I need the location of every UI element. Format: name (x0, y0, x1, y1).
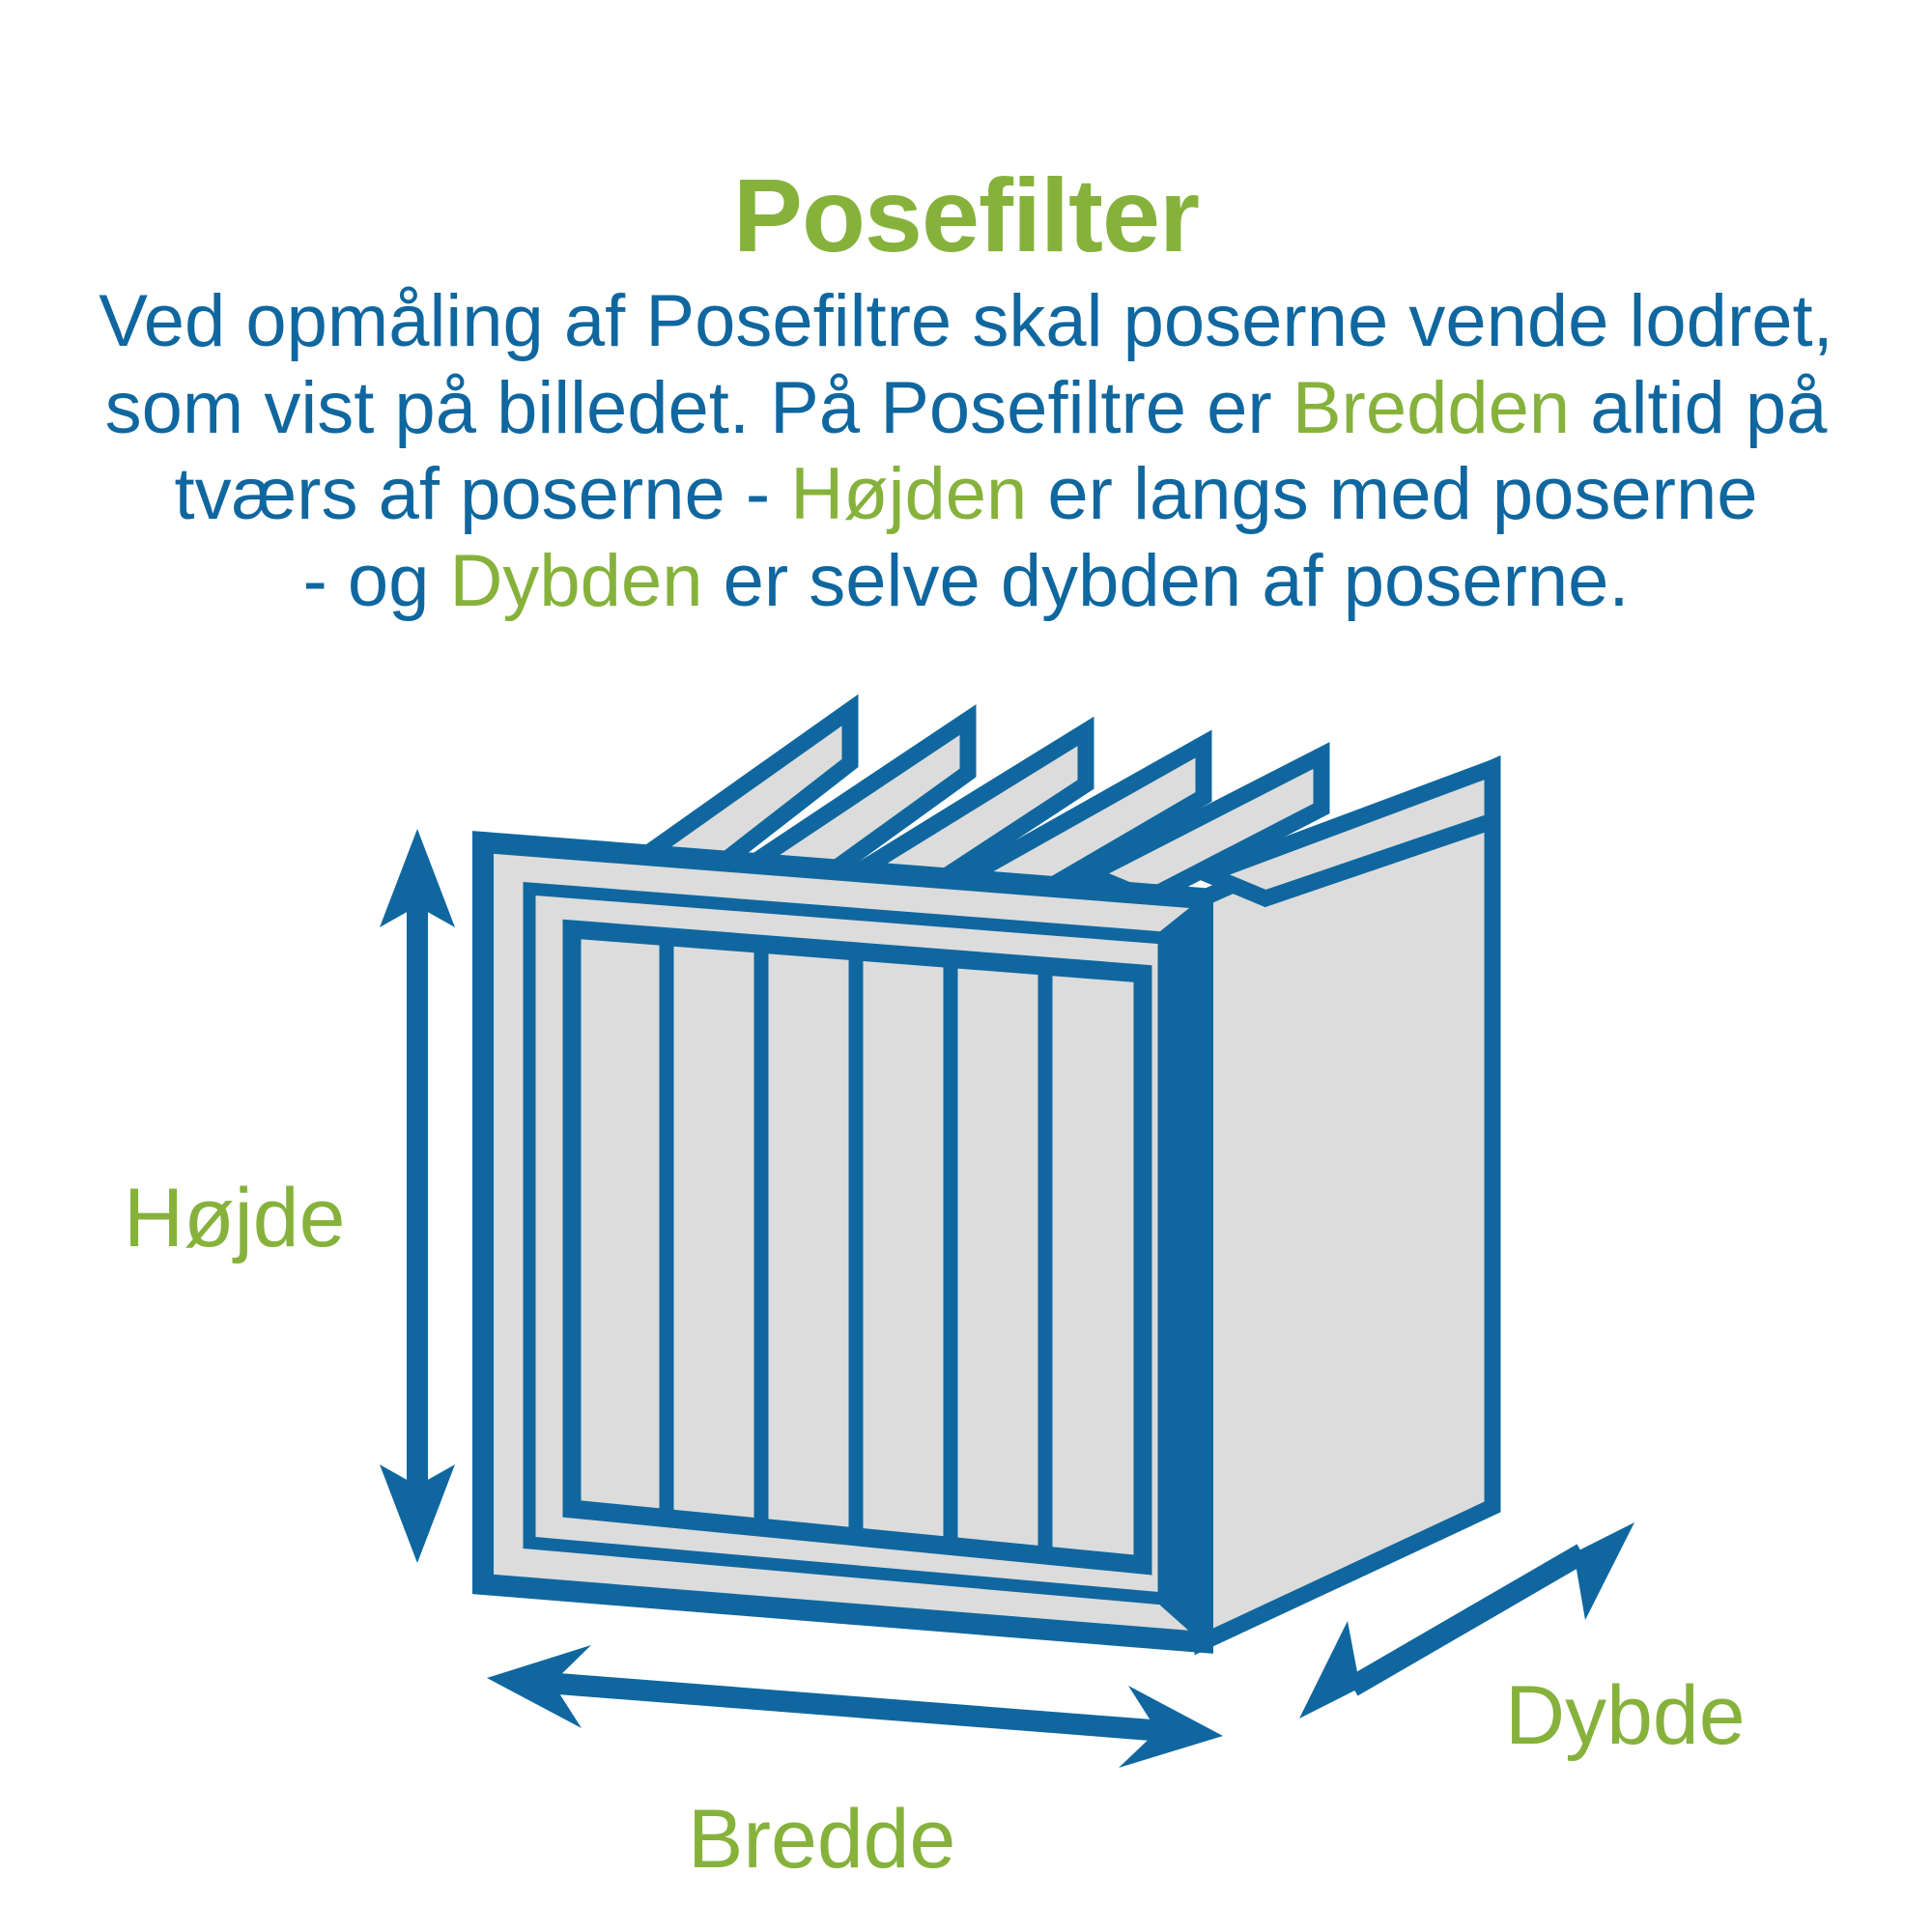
depth-arrow-head-down-left (1299, 1621, 1410, 1719)
width-arrow (487, 1645, 1223, 1768)
label-height: Højde (124, 1172, 345, 1264)
poster-root: Posefilter Ved opmåling af Posefiltre sk… (0, 0, 1932, 1932)
label-depth: Dybde (1505, 1669, 1746, 1762)
height-arrow (380, 829, 455, 1563)
bag-filter-diagram: Højde Bredde Dybde (0, 0, 1932, 1932)
label-width: Bredde (688, 1793, 955, 1886)
frame-right-corner-post (1164, 898, 1207, 1642)
bag-face-panel (572, 929, 1143, 1565)
depth-arrow-head-up-right (1523, 1522, 1634, 1620)
